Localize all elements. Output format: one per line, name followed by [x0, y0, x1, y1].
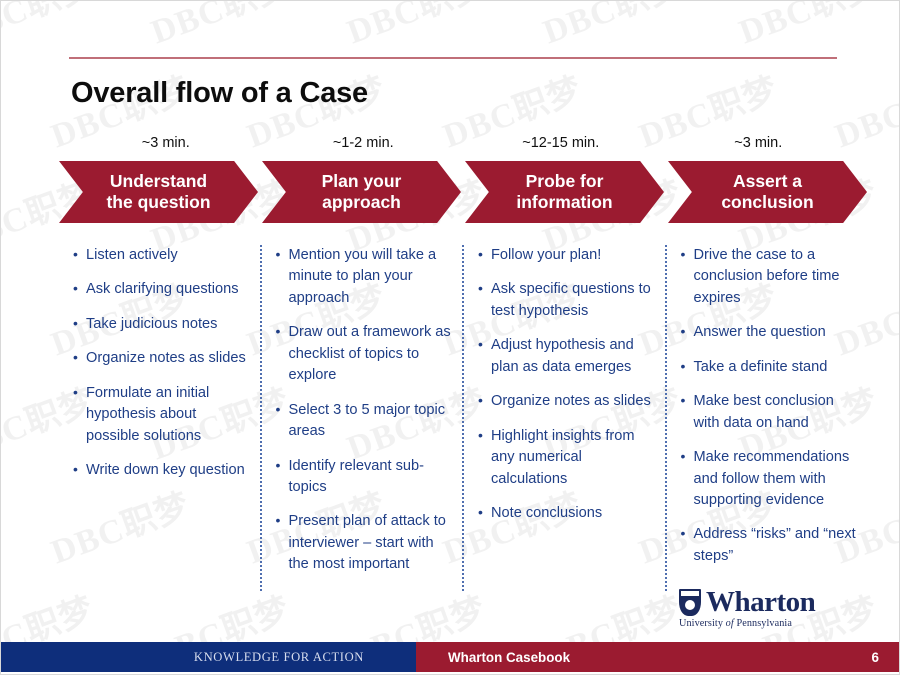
page-title: Overall flow of a Case: [71, 77, 368, 110]
list-item: Draw out a framework as checklist of top…: [276, 322, 453, 386]
list-item: Identify relevant sub-topics: [276, 456, 453, 499]
penn-shield-icon: [679, 589, 701, 616]
watermark-text: DBC职梦: [731, 1, 884, 53]
phase-bullet-list-1: Listen activelyAsk clarifying questionsT…: [73, 245, 250, 482]
phase-heading-2: Plan yourapproach: [316, 171, 408, 212]
list-item: Write down key question: [73, 460, 250, 481]
watermark-text: DBC职梦: [339, 1, 492, 53]
list-item: Note conclusions: [478, 503, 655, 524]
list-item: Ask specific questions to test hypothesi…: [478, 279, 655, 322]
phase-heading-line2-2: approach: [322, 192, 402, 213]
wharton-logo: Wharton University of Pennsylvania: [679, 589, 851, 629]
phase-heading-line1-4: Assert a: [721, 171, 813, 192]
phase-time-3: ~12-15 min.: [462, 135, 660, 157]
list-item: Formulate an initial hypothesis about po…: [73, 383, 250, 447]
phase-chevron-band: Understandthe questionPlan yourapproachP…: [59, 161, 867, 223]
footer-document-title: Wharton Casebook: [448, 650, 872, 665]
logo-subtitle: University of Pennsylvania: [679, 618, 851, 629]
phase-column-2: Mention you will take a minute to plan y…: [260, 245, 463, 591]
phase-column-4: Drive the case to a conclusion before ti…: [665, 245, 868, 591]
phase-time-4: ~3 min.: [660, 135, 858, 157]
phase-bullet-list-4: Drive the case to a conclusion before ti…: [681, 245, 858, 567]
phase-heading-line1-3: Probe for: [516, 171, 612, 192]
list-item: Adjust hypothesis and plan as data emerg…: [478, 335, 655, 378]
list-item: Take judicious notes: [73, 314, 250, 335]
list-item: Drive the case to a conclusion before ti…: [681, 245, 858, 309]
phase-heading-line2-3: information: [516, 192, 612, 213]
phase-heading-line1-2: Plan your: [322, 171, 402, 192]
phase-bullet-list-3: Follow your plan!Ask specific questions …: [478, 245, 655, 524]
list-item: Organize notes as slides: [73, 348, 250, 369]
list-item: Answer the question: [681, 322, 858, 343]
list-item: Make best conclusion with data on hand: [681, 391, 858, 434]
list-item: Address “risks” and “next steps”: [681, 524, 858, 567]
watermark-text: DBC职梦: [143, 1, 296, 53]
phase-bullet-columns: Listen activelyAsk clarifying questionsT…: [59, 245, 867, 591]
logo-subtitle-post: Pennsylvania: [736, 618, 792, 629]
phase-heading-3: Probe forinformation: [510, 171, 618, 212]
phase-time-1: ~3 min.: [67, 135, 265, 157]
list-item: Mention you will take a minute to plan y…: [276, 245, 453, 309]
phase-time-row: ~3 min.~1-2 min.~12-15 min.~3 min.: [67, 135, 857, 157]
phase-chevron-1[interactable]: Understandthe question: [59, 161, 258, 223]
phase-chevron-2[interactable]: Plan yourapproach: [262, 161, 461, 223]
list-item: Highlight insights from any numerical ca…: [478, 426, 655, 490]
list-item: Follow your plan!: [478, 245, 655, 266]
phase-heading-1: Understandthe question: [100, 171, 216, 212]
footer-page-number: 6: [872, 650, 879, 665]
list-item: Select 3 to 5 major topic areas: [276, 400, 453, 443]
list-item: Make recommendations and follow them wit…: [681, 447, 858, 511]
phase-time-2: ~1-2 min.: [265, 135, 463, 157]
list-item: Ask clarifying questions: [73, 279, 250, 300]
footer-document-band: Wharton Casebook 6: [416, 642, 900, 672]
logo-wordmark: Wharton: [706, 589, 815, 616]
list-item: Listen actively: [73, 245, 250, 266]
slide-footer: KNOWLEDGE FOR ACTION Wharton Casebook 6: [1, 642, 900, 672]
phase-chevron-4[interactable]: Assert aconclusion: [668, 161, 867, 223]
phase-heading-line1-1: Understand: [106, 171, 210, 192]
footer-tagline-band: KNOWLEDGE FOR ACTION: [1, 642, 416, 672]
phase-heading-line2-1: the question: [106, 192, 210, 213]
logo-subtitle-pre: University: [679, 618, 726, 629]
slide-canvas: DBC职梦DBC职梦DBC职梦DBC职梦DBC职梦DBC职梦DBC职梦DBC职梦…: [0, 0, 900, 675]
title-rule: [69, 57, 837, 59]
phase-chevron-3[interactable]: Probe forinformation: [465, 161, 664, 223]
footer-tagline: KNOWLEDGE FOR ACTION: [194, 650, 364, 665]
list-item: Organize notes as slides: [478, 391, 655, 412]
phase-bullet-list-2: Mention you will take a minute to plan y…: [276, 245, 453, 576]
phase-heading-4: Assert aconclusion: [715, 171, 819, 212]
phase-heading-line2-4: conclusion: [721, 192, 813, 213]
logo-subtitle-italic: of: [726, 618, 737, 629]
list-item: Take a definite stand: [681, 357, 858, 378]
watermark-text: DBC职梦: [535, 1, 688, 53]
phase-column-1: Listen activelyAsk clarifying questionsT…: [59, 245, 260, 591]
watermark-text: DBC职梦: [1, 1, 100, 53]
list-item: Present plan of attack to interviewer – …: [276, 511, 453, 575]
phase-column-3: Follow your plan!Ask specific questions …: [462, 245, 665, 591]
